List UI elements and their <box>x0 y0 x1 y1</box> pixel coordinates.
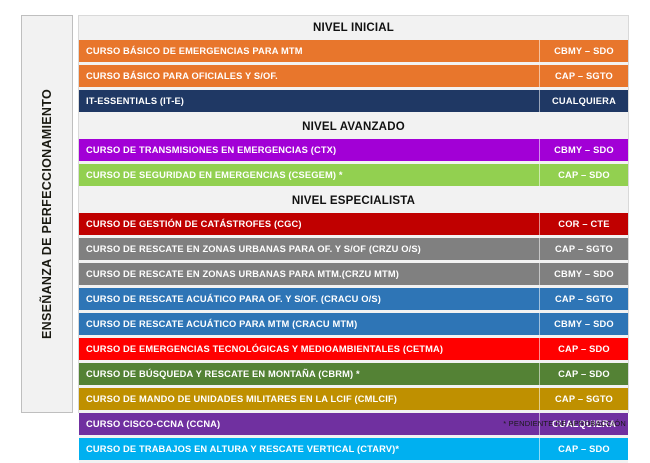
course-name-cell: CURSO DE RESCATE EN ZONAS URBANAS PARA O… <box>79 238 539 260</box>
table-row[interactable]: CURSO DE RESCATE ACUÁTICO PARA MTM (CRAC… <box>79 313 628 335</box>
table-row[interactable]: CURSO DE RESCATE ACUÁTICO PARA OF. Y S/O… <box>79 288 628 310</box>
course-name-cell: CURSO DE RESCATE ACUÁTICO PARA MTM (CRAC… <box>79 313 539 335</box>
rank-range-cell: COR – CTE <box>539 213 628 235</box>
rank-range-cell: CBMY – SDO <box>539 139 628 161</box>
courses-table-body: NIVEL INICIALCURSO BÁSICO DE EMERGENCIAS… <box>79 16 628 412</box>
course-name-cell: CURSO DE EMERGENCIAS TECNOLÓGICAS Y MEDI… <box>79 338 539 360</box>
table-row[interactable]: CURSO DE MANDO DE UNIDADES MILITARES EN … <box>79 388 628 410</box>
rank-range-cell: CAP – SDO <box>539 363 628 385</box>
course-name-cell: CURSO DE TRANSMISIONES EN EMERGENCIAS (C… <box>79 139 539 161</box>
rank-range-cell: CAP – SGTO <box>539 238 628 260</box>
training-levels-table: ENSEÑANZA DE PERFECCIONAMIENTO NIVEL INI… <box>0 0 650 438</box>
section-header-label: NIVEL AVANZADO <box>302 121 405 133</box>
table-row[interactable]: CURSO DE SEGURIDAD EN EMERGENCIAS (CSEGE… <box>79 164 628 186</box>
section-header-row: NIVEL INICIAL <box>79 16 628 40</box>
rank-range-cell: CAP – SGTO <box>539 288 628 310</box>
table-row[interactable]: CURSO DE RESCATE EN ZONAS URBANAS PARA M… <box>79 263 628 285</box>
rank-range-cell: CBMY – SDO <box>539 40 628 62</box>
rank-range-cell: CAP – SDO <box>539 164 628 186</box>
table-row[interactable]: CURSO DE RESCATE EN ZONAS URBANAS PARA O… <box>79 238 628 260</box>
section-header-label: NIVEL ESPECIALISTA <box>292 195 415 207</box>
course-name-cell: CURSO CISCO-CCNA (CCNA) <box>79 413 539 435</box>
footnote-text: * PENDIENTE DE APROBACCIÓN <box>503 419 626 428</box>
table-row[interactable]: CURSO DE BÚSQUEDA Y RESCATE EN MONTAÑA (… <box>79 363 628 385</box>
rank-range-cell: CAP – SDO <box>539 338 628 360</box>
rank-range-cell: CBMY – SDO <box>539 263 628 285</box>
course-name-cell: CURSO DE GESTIÓN DE CATÁSTROFES (CGC) <box>79 213 539 235</box>
course-name-cell: CURSO BÁSICO DE EMERGENCIAS PARA MTM <box>79 40 539 62</box>
rank-range-cell: CAP – SGTO <box>539 388 628 410</box>
course-name-cell: CURSO DE MANDO DE UNIDADES MILITARES EN … <box>79 388 539 410</box>
course-name-cell: CURSO DE RESCATE ACUÁTICO PARA OF. Y S/O… <box>79 288 539 310</box>
table-row[interactable]: CURSO BÁSICO PARA OFICIALES Y S/OF.CAP –… <box>79 65 628 87</box>
section-header-row: NIVEL AVANZADO <box>79 115 628 139</box>
table-row[interactable]: CURSO DE TRANSMISIONES EN EMERGENCIAS (C… <box>79 139 628 161</box>
table-row[interactable]: CURSO BÁSICO DE EMERGENCIAS PARA MTMCBMY… <box>79 40 628 62</box>
table-row[interactable]: CURSO DE EMERGENCIAS TECNOLÓGICAS Y MEDI… <box>79 338 628 360</box>
rank-range-cell: CAP – SGTO <box>539 65 628 87</box>
section-header-label: NIVEL INICIAL <box>313 22 394 34</box>
course-name-cell: CURSO DE SEGURIDAD EN EMERGENCIAS (CSEGE… <box>79 164 539 186</box>
vertical-title-box: ENSEÑANZA DE PERFECCIONAMIENTO <box>21 15 73 413</box>
table-row[interactable]: CURSO DE GESTIÓN DE CATÁSTROFES (CGC)COR… <box>79 213 628 235</box>
rank-range-cell: CBMY – SDO <box>539 313 628 335</box>
table-row[interactable]: CURSO DE TRABAJOS EN ALTURA Y RESCATE VE… <box>79 438 628 460</box>
vertical-title-label: ENSEÑANZA DE PERFECCIONAMIENTO <box>40 89 54 339</box>
course-name-cell: CURSO DE BÚSQUEDA Y RESCATE EN MONTAÑA (… <box>79 363 539 385</box>
courses-table: NIVEL INICIALCURSO BÁSICO DE EMERGENCIAS… <box>78 15 629 413</box>
course-name-cell: CURSO BÁSICO PARA OFICIALES Y S/OF. <box>79 65 539 87</box>
course-name-cell: CURSO DE TRABAJOS EN ALTURA Y RESCATE VE… <box>79 438 539 460</box>
rank-range-cell: CAP – SDO <box>539 438 628 460</box>
section-header-row: NIVEL ESPECIALISTA <box>79 189 628 213</box>
course-name-cell: CURSO DE RESCATE EN ZONAS URBANAS PARA M… <box>79 263 539 285</box>
rank-range-cell: CUALQUIERA <box>539 90 628 112</box>
course-name-cell: IT-ESSENTIALS (IT-E) <box>79 90 539 112</box>
table-row[interactable]: IT-ESSENTIALS (IT-E)CUALQUIERA <box>79 90 628 112</box>
